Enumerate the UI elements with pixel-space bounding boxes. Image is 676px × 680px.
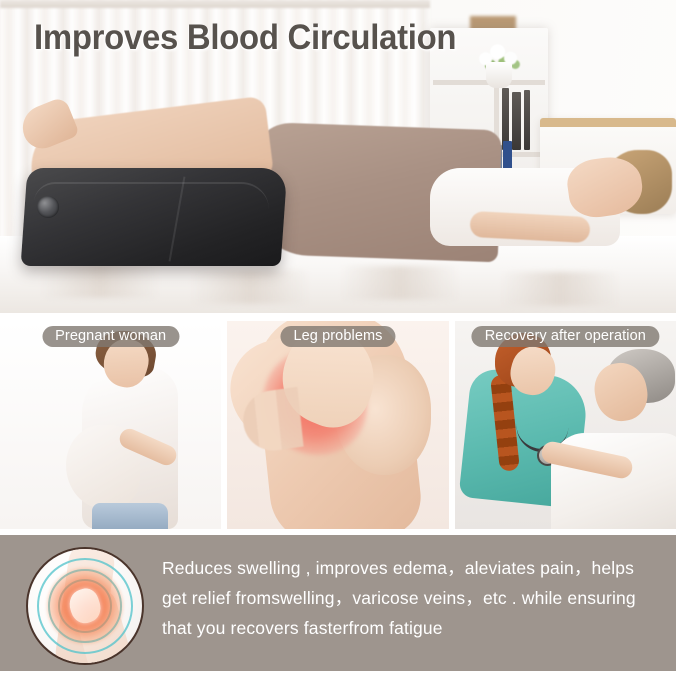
panel-leg-problems: Leg problems xyxy=(227,321,448,529)
pillow-seam xyxy=(33,182,271,214)
curtain-rod xyxy=(0,0,430,8)
benefits-description: Reduces swelling , improves edema，alevia… xyxy=(162,553,662,643)
panel-label-leg-problems: Leg problems xyxy=(280,326,395,347)
pillow-air-valve-icon xyxy=(37,196,59,218)
panel-pregnant-woman: Pregnant woman xyxy=(0,321,221,529)
plant-pot xyxy=(486,62,512,88)
knee-joint-pain-icon xyxy=(26,547,144,665)
product-marketing-poster: Improves Blood Circulation Pregnant woma… xyxy=(0,0,676,680)
benefits-line-3: that you recovers fasterfrom fatigue xyxy=(162,613,662,643)
panel-label-recovery-after-operation: Recovery after operation xyxy=(472,326,659,347)
post-operation-recovery-photo xyxy=(455,321,676,529)
benefits-line-1: Reduces swelling , improves edema，alevia… xyxy=(162,553,662,583)
hero-image: Improves Blood Circulation xyxy=(0,0,676,313)
benefits-line-2: get relief fromswelling，varicose veins，e… xyxy=(162,583,662,613)
panel-label-pregnant-woman: Pregnant woman xyxy=(42,326,179,347)
panel-recovery-after-operation: Recovery after operation xyxy=(455,321,676,529)
benefits-bar: Reduces swelling , improves edema，alevia… xyxy=(0,535,676,671)
leg-pain-photo xyxy=(227,321,448,529)
page-title: Improves Blood Circulation xyxy=(34,18,456,58)
pregnant-woman-photo xyxy=(0,321,221,529)
use-case-panels: Pregnant woman Leg problems xyxy=(0,321,676,529)
